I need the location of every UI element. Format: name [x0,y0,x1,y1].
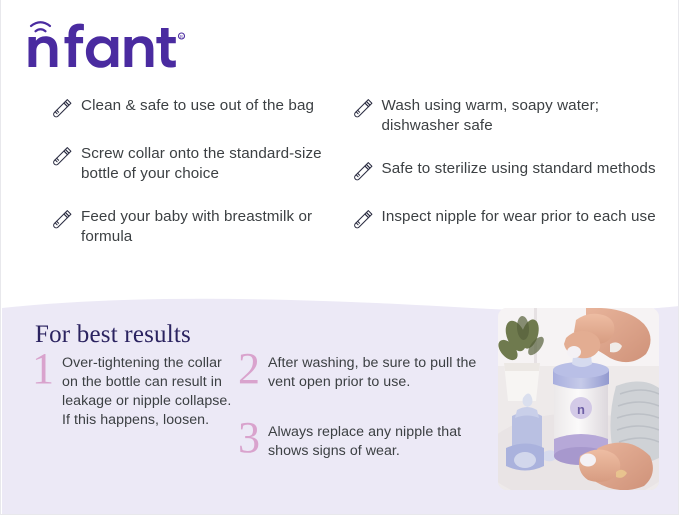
baby-bottle-icon [51,144,81,170]
feature-item: Feed your baby with breastmilk or formul… [51,207,323,248]
brand-logo: R [25,16,225,70]
feature-text: Safe to sterilize using standard methods [382,159,656,179]
baby-bottle-icon [51,96,81,122]
svg-text:n: n [577,402,585,417]
feature-text: Wash using warm, soapy water; dishwasher… [382,96,663,137]
feature-column-right: Wash using warm, soapy water; dishwasher… [341,96,679,269]
feature-item: Clean & safe to use out of the bag [51,96,323,122]
baby-bottle-icon [352,96,382,122]
feature-item: Wash using warm, soapy water; dishwasher… [352,96,663,137]
tip-number: 3 [238,421,268,455]
page-title: For best results [35,321,191,349]
feature-text: Clean & safe to use out of the bag [81,96,314,116]
feature-item: Screw collar onto the standard-size bott… [51,144,323,185]
tip-item: 1 Over-tightening the collar on the bott… [32,354,237,430]
svg-text:R: R [180,34,183,39]
hands-holding-baby-bottle-photo: n [498,308,659,490]
product-info-card: R Clean & safe to use [0,0,679,515]
feature-text: Screw collar onto the standard-size bott… [81,144,323,185]
feature-item: Inspect nipple for wear prior to each us… [352,207,663,233]
tip-text: Always replace any nipple that shows sig… [268,423,493,461]
feature-list: Clean & safe to use out of the bag S [1,96,679,269]
tip-number: 1 [32,352,62,386]
feature-text: Feed your baby with breastmilk or formul… [81,207,323,248]
feature-column-left: Clean & safe to use out of the bag S [1,96,341,269]
tip-number: 2 [238,352,268,386]
nfant-logo-icon: R [25,16,225,70]
best-results-panel: For best results 1 Over-tightening the c… [2,286,679,515]
tip-item: 3 Always replace any nipple that shows s… [238,423,493,461]
feature-text: Inspect nipple for wear prior to each us… [382,207,656,227]
tip-item: 2 After washing, be sure to pull the ven… [238,354,493,392]
product-photo: n [498,308,659,490]
tip-text: After washing, be sure to pull the vent … [268,354,493,392]
baby-bottle-icon [51,207,81,233]
baby-bottle-icon [352,207,382,233]
feature-item: Safe to sterilize using standard methods [352,159,663,185]
tip-text: Over-tightening the collar on the bottle… [62,354,237,430]
baby-bottle-icon [352,159,382,185]
